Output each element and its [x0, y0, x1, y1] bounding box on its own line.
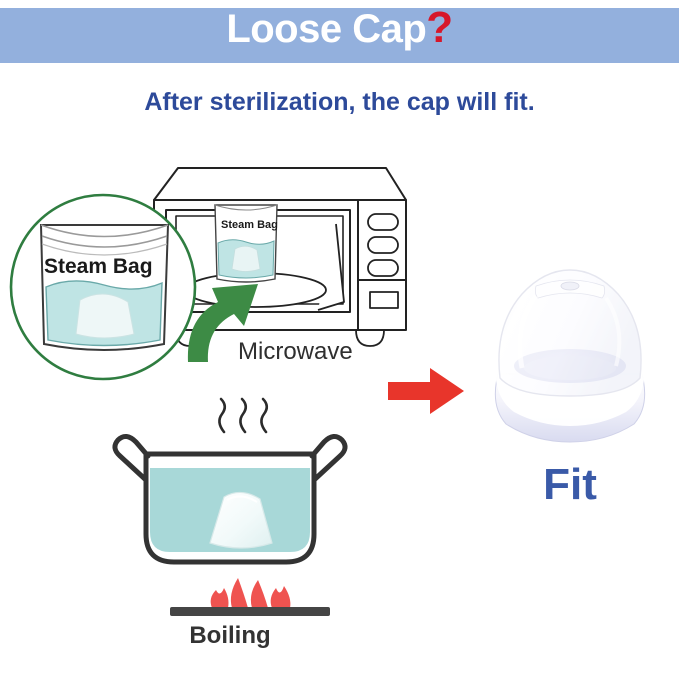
arrow-right-icon	[386, 366, 466, 416]
magnifier-circle-icon	[8, 192, 198, 382]
page-title: Loose Cap?	[0, 5, 679, 52]
steam-bag-magnified-label: Steam Bag	[44, 255, 153, 279]
steam-bag-microwave-label: Steam Bag	[221, 219, 278, 231]
infographic-canvas: Loose Cap? After sterilization, the cap …	[0, 0, 679, 679]
subtitle: After sterilization, the cap will fit.	[0, 88, 679, 117]
page-title-text: Loose Cap	[226, 7, 426, 51]
bottle-cap-in-pot-icon	[200, 487, 282, 555]
question-mark: ?	[426, 3, 452, 52]
heating-element-bar	[170, 607, 330, 616]
flame-icon	[204, 576, 298, 608]
fit-label: Fit	[460, 460, 679, 510]
microwave-label: Microwave	[238, 338, 353, 366]
boiling-label: Boiling	[0, 622, 460, 650]
steam-bag-icon	[205, 195, 287, 287]
bottle-cap-icon	[484, 256, 656, 446]
